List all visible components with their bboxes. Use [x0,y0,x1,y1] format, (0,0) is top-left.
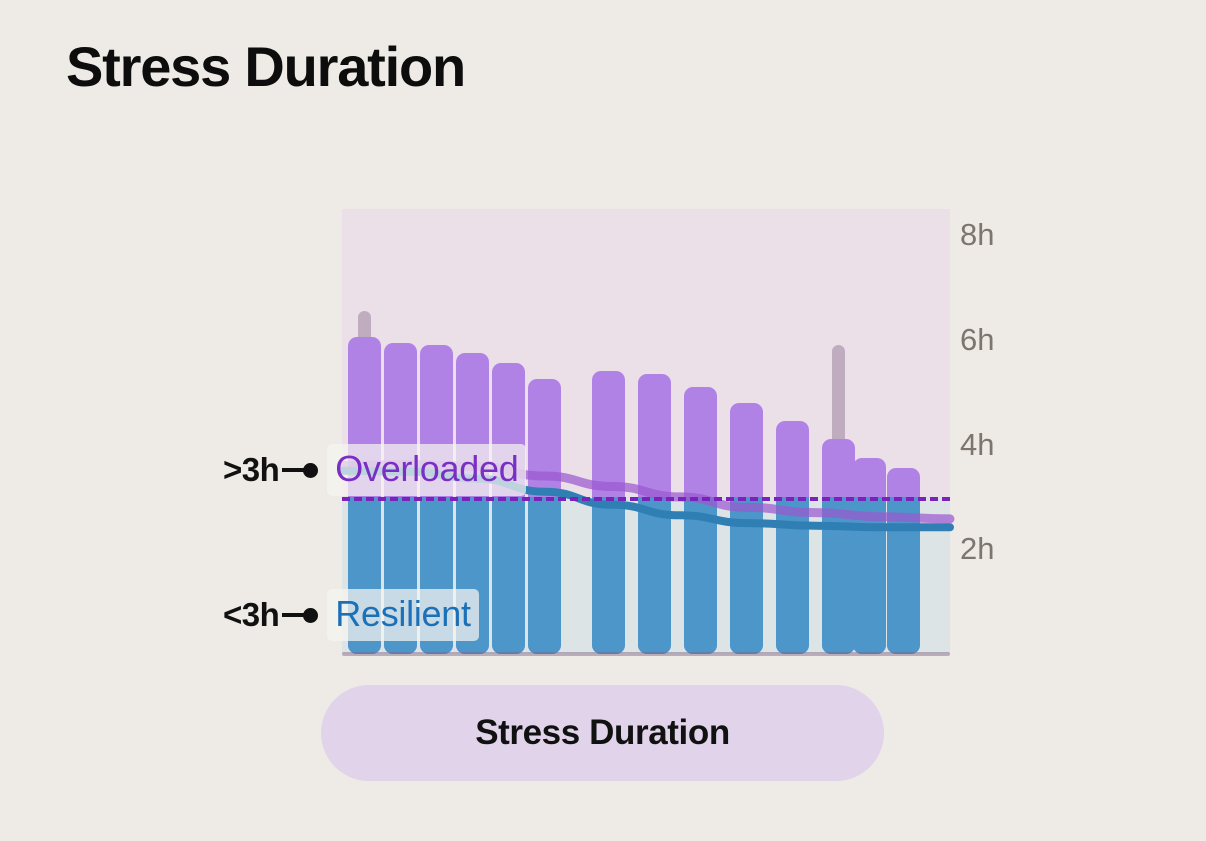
connector-dot-icon [303,463,318,478]
y-axis-tick: 6h [960,322,994,358]
y-axis-tick: 4h [960,427,994,463]
connector-line-icon [282,613,304,617]
annotation-overloaded: >3h Overloaded [223,444,526,496]
stress-duration-button[interactable]: Stress Duration [321,685,884,781]
plot-area [342,209,950,654]
y-axis-tick: 2h [960,531,994,567]
connector-dot-icon [303,608,318,623]
trend-lines [342,209,950,654]
annotation-resilient-value: <3h [223,596,279,634]
annotation-resilient-label: Resilient [327,589,478,641]
threshold-line-3h [342,497,950,501]
y-axis: 8h6h4h2h [960,209,1070,654]
chart-baseline [342,652,950,656]
y-axis-tick: 8h [960,217,994,253]
connector-line-icon [282,468,304,472]
annotation-overloaded-label: Overloaded [327,444,526,496]
annotation-resilient: <3h Resilient [223,589,479,641]
annotation-overloaded-value: >3h [223,451,279,489]
